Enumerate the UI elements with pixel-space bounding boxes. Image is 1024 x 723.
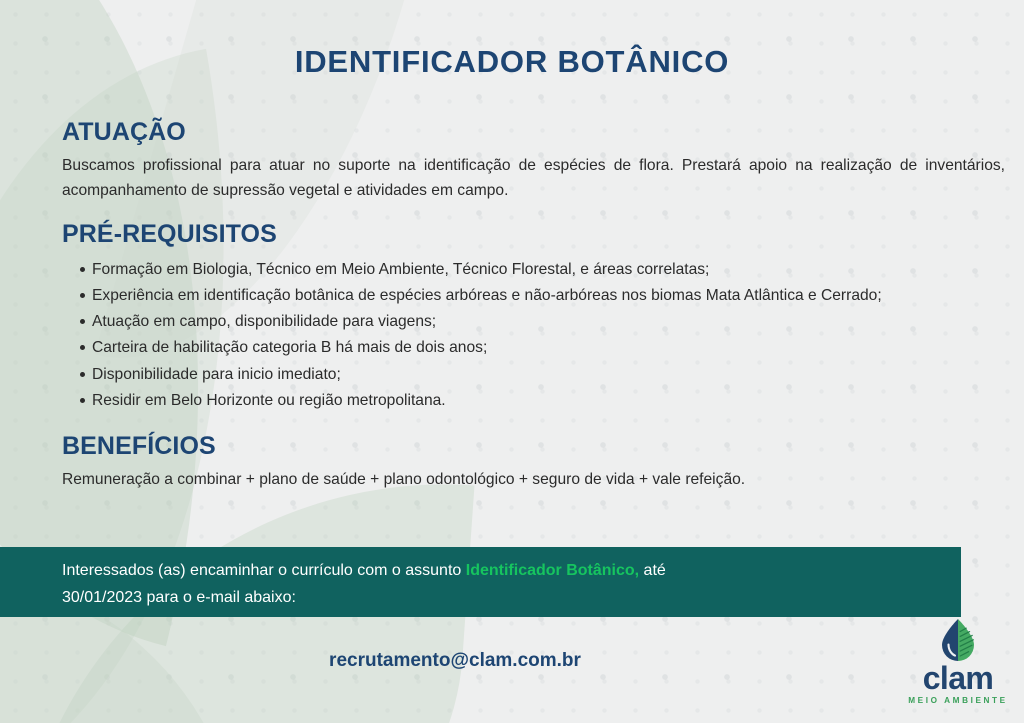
requirements-list: Formação em Biologia, Técnico em Meio Am… [62, 257, 1005, 414]
list-item: Residir em Belo Horizonte ou região metr… [62, 388, 1005, 413]
spacer [62, 204, 1005, 220]
logo-tagline: MEIO AMBIENTE [902, 696, 1014, 705]
list-item: Experiência em identificação botânica de… [62, 283, 1005, 308]
banner-deadline-line: 30/01/2023 para o e-mail abaixo: [62, 585, 901, 612]
list-item: Atuação em campo, disponibilidade para v… [62, 309, 1005, 334]
banner-text-before: Interessados (as) encaminhar o currículo… [62, 562, 466, 579]
section-heading-pre-requisitos: PRÉ-REQUISITOS [62, 220, 1005, 249]
contact-email[interactable]: recrutamento@clam.com.br [0, 650, 910, 672]
leaf-droplet-icon [938, 618, 978, 662]
logo-wordmark: clam [902, 663, 1014, 694]
banner-text-after: até [639, 562, 666, 579]
list-item: Carteira de habilitação categoria B há m… [62, 335, 1005, 360]
list-item: Disponibilidade para inicio imediato; [62, 362, 1005, 387]
banner-subject-highlight: Identificador Botânico, [466, 562, 639, 579]
banner-instructions: Interessados (as) encaminhar o currículo… [62, 558, 901, 612]
application-banner: Interessados (as) encaminhar o currículo… [0, 547, 961, 617]
job-posting-poster: IDENTIFICADOR BOTÂNICO ATUAÇÃO Buscamos … [0, 0, 1024, 723]
content-body: ATUAÇÃO Buscamos profissional para atuar… [62, 118, 1005, 492]
page-title: IDENTIFICADOR BOTÂNICO [0, 44, 1024, 80]
section-heading-atuacao: ATUAÇÃO [62, 118, 1005, 147]
spacer [62, 414, 1005, 432]
company-logo: clam MEIO AMBIENTE [902, 618, 1014, 714]
section-heading-beneficios: BENEFÍCIOS [62, 432, 1005, 461]
section-paragraph-beneficios: Remuneração a combinar + plano de saúde … [62, 467, 1005, 492]
section-paragraph-atuacao: Buscamos profissional para atuar no supo… [62, 153, 1005, 204]
list-item: Formação em Biologia, Técnico em Meio Am… [62, 257, 1005, 282]
